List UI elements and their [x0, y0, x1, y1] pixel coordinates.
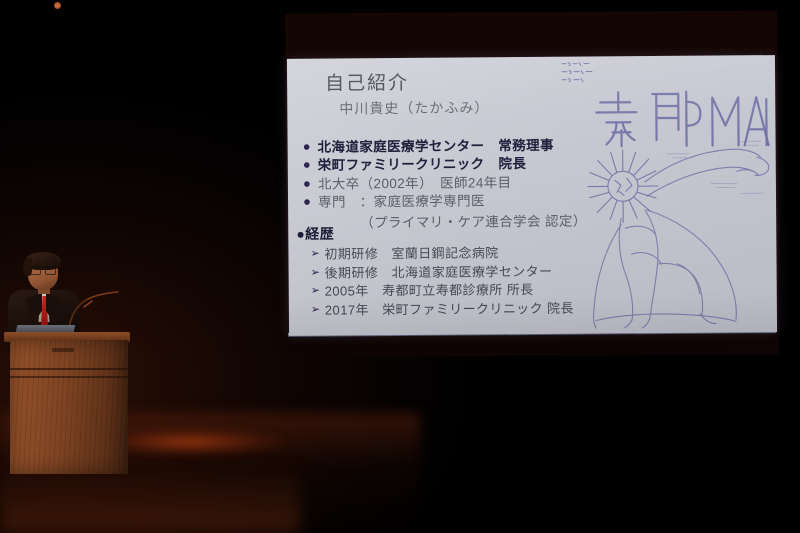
bullet-text: 専門 ：家庭医療学専門医	[318, 192, 485, 211]
glasses-icon	[30, 266, 56, 274]
sea-urchin-head-icon	[588, 150, 659, 223]
slide-title: 自己紹介	[325, 68, 409, 96]
podium-trim-line	[10, 368, 128, 370]
arrow-bullet-icon: ➢	[310, 246, 324, 263]
pointing-arm	[645, 149, 769, 196]
projected-slide: 自己紹介 中川貴史（たかふみ） ● 北海道家庭医療学センター 常務理事 ● 栄町…	[287, 55, 777, 336]
hand-drawn-illustration	[560, 57, 774, 329]
arrow-bullet-icon: ➢	[311, 264, 325, 281]
podium-body	[10, 340, 128, 474]
bullet-text: 北大卒（2002年） 医師24年目	[318, 174, 512, 193]
bullet-text: 北海道家庭医療学センター 常務理事	[318, 137, 554, 156]
illustration-svg	[560, 57, 774, 329]
section-heading-label: 経歴	[305, 226, 334, 242]
bullet-dot-icon: ●	[296, 193, 318, 210]
suzutsu-man-wordmark-icon	[596, 91, 768, 146]
bullet-dot-icon: ●	[296, 139, 318, 156]
career-item-text: 2017年 栄町ファミリークリニック 院長	[325, 300, 574, 321]
career-section-heading: ●経歴	[296, 224, 334, 244]
podium	[4, 332, 130, 474]
career-item-text: 初期研修 室蘭日鋼記念病院	[324, 244, 498, 264]
bullet-dot-icon: ●	[296, 157, 318, 174]
bullet-dot-icon: ●	[296, 175, 318, 192]
career-item-text: 2005年 寿都町立寿都診療所 所長	[325, 281, 534, 301]
hero-body	[593, 209, 737, 328]
bullet-text: 栄町ファミリークリニック 院長	[318, 155, 527, 174]
arrow-bullet-icon: ➢	[311, 302, 325, 319]
arrow-bullet-icon: ➢	[311, 283, 325, 300]
microphone-head-icon	[54, 2, 61, 9]
presentation-photo: 自己紹介 中川貴史（たかふみ） ● 北海道家庭医療学センター 常務理事 ● 栄町…	[0, 0, 800, 533]
slide-subtitle: 中川貴史（たかふみ）	[339, 97, 489, 118]
podium-plate	[52, 348, 74, 352]
career-item-text: 後期研修 北海道家庭医療学センター	[325, 263, 553, 284]
podium-trim-line	[10, 376, 128, 378]
podium-wood-grain	[10, 340, 128, 474]
section-dot-icon: ●	[296, 226, 305, 242]
illustration-annotations	[667, 141, 763, 194]
handwritten-note-icon	[560, 58, 596, 88]
